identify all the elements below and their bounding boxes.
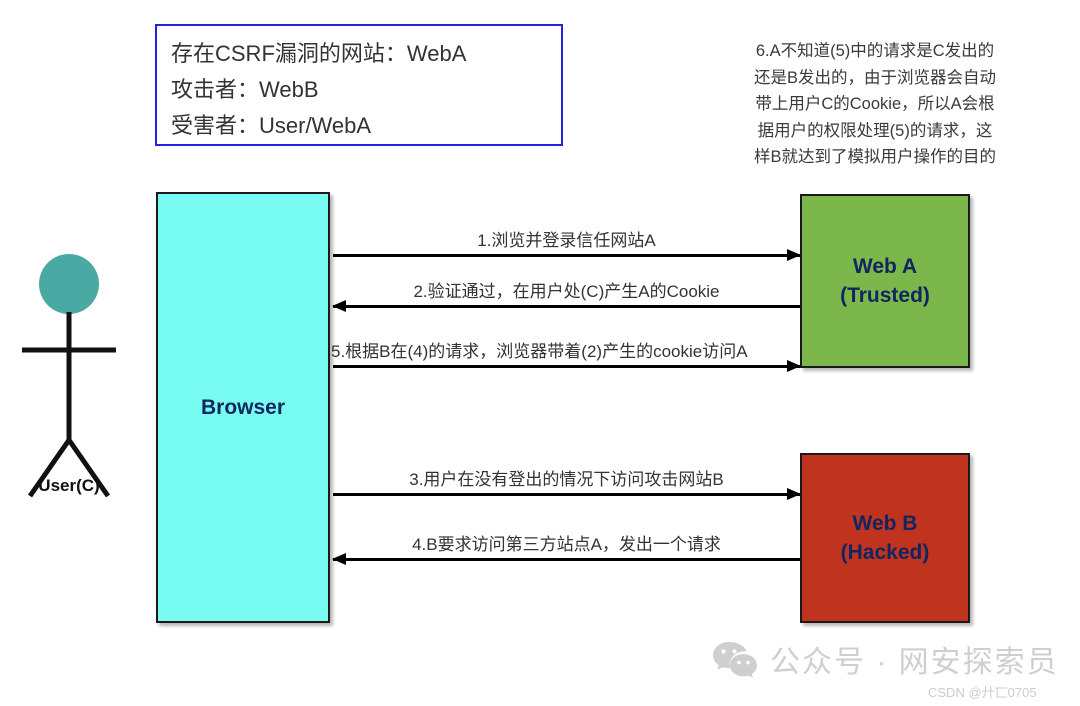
- legend-box: 存在CSRF漏洞的网站：WebA 攻击者：WebB 受害者：User/WebA: [155, 24, 563, 146]
- annotation-line: 带上用户C的Cookie，所以A会根: [716, 91, 1034, 118]
- legend-line-vulnerable-site: 存在CSRF漏洞的网站：WebA: [171, 36, 561, 72]
- flow-line: [333, 305, 800, 308]
- node-web-a: Web A (Trusted): [800, 194, 970, 368]
- annotation-line: 6.A不知道(5)中的请求是C发出的: [716, 38, 1034, 65]
- annotation-line: 样B就达到了模拟用户操作的目的: [716, 144, 1034, 171]
- flow-line: [333, 493, 800, 496]
- flow-line: [333, 558, 800, 561]
- csrf-flow-diagram: 存在CSRF漏洞的网站：WebA 攻击者：WebB 受害者：User/WebA …: [0, 0, 1080, 706]
- node-web-b-label-line2: (Hacked): [841, 538, 930, 567]
- flow-label-1: 1.浏览并登录信任网站A: [333, 226, 800, 251]
- watermark: 公众号 · 网安探索员: [712, 637, 1059, 681]
- node-web-a-label-line1: Web A: [853, 252, 917, 281]
- flow-label-5: 5.根据B在(4)的请求，浏览器带着(2)产生的cookie访问A: [331, 337, 748, 362]
- flow-line: [333, 365, 800, 368]
- flow-label-3: 3.用户在没有登出的情况下访问攻击网站B: [333, 465, 800, 490]
- annotation-line: 还是B发出的，由于浏览器会自动: [716, 65, 1034, 92]
- wechat-logo-icon: [712, 640, 758, 678]
- flow-label-2: 2.验证通过，在用户处(C)产生A的Cookie: [333, 277, 800, 302]
- node-browser-label: Browser: [201, 393, 285, 422]
- node-web-a-label-line2: (Trusted): [840, 281, 930, 310]
- wechat-account-text: 公众号 · 网安探索员: [770, 637, 1059, 681]
- arrowhead-right-icon: [787, 360, 801, 372]
- legend-line-victim: 受害者：User/WebA: [171, 108, 561, 144]
- node-browser: Browser: [156, 192, 330, 623]
- user-label: User(C): [0, 476, 138, 496]
- legend-line-attacker: 攻击者：WebB: [171, 72, 561, 108]
- flow-line: [333, 254, 800, 257]
- flow-label-4: 4.B要求访问第三方站点A，发出一个请求: [333, 530, 800, 555]
- node-web-b-label-line1: Web B: [853, 509, 918, 538]
- user-stick-figure-icon: [14, 250, 124, 500]
- csdn-watermark-text: CSDN @廾匸0705: [928, 682, 1037, 701]
- node-web-b: Web B (Hacked): [800, 453, 970, 623]
- annotation-step-6: 6.A不知道(5)中的请求是C发出的 还是B发出的，由于浏览器会自动 带上用户C…: [716, 38, 1034, 171]
- annotation-line: 据用户的权限处理(5)的请求，这: [716, 118, 1034, 145]
